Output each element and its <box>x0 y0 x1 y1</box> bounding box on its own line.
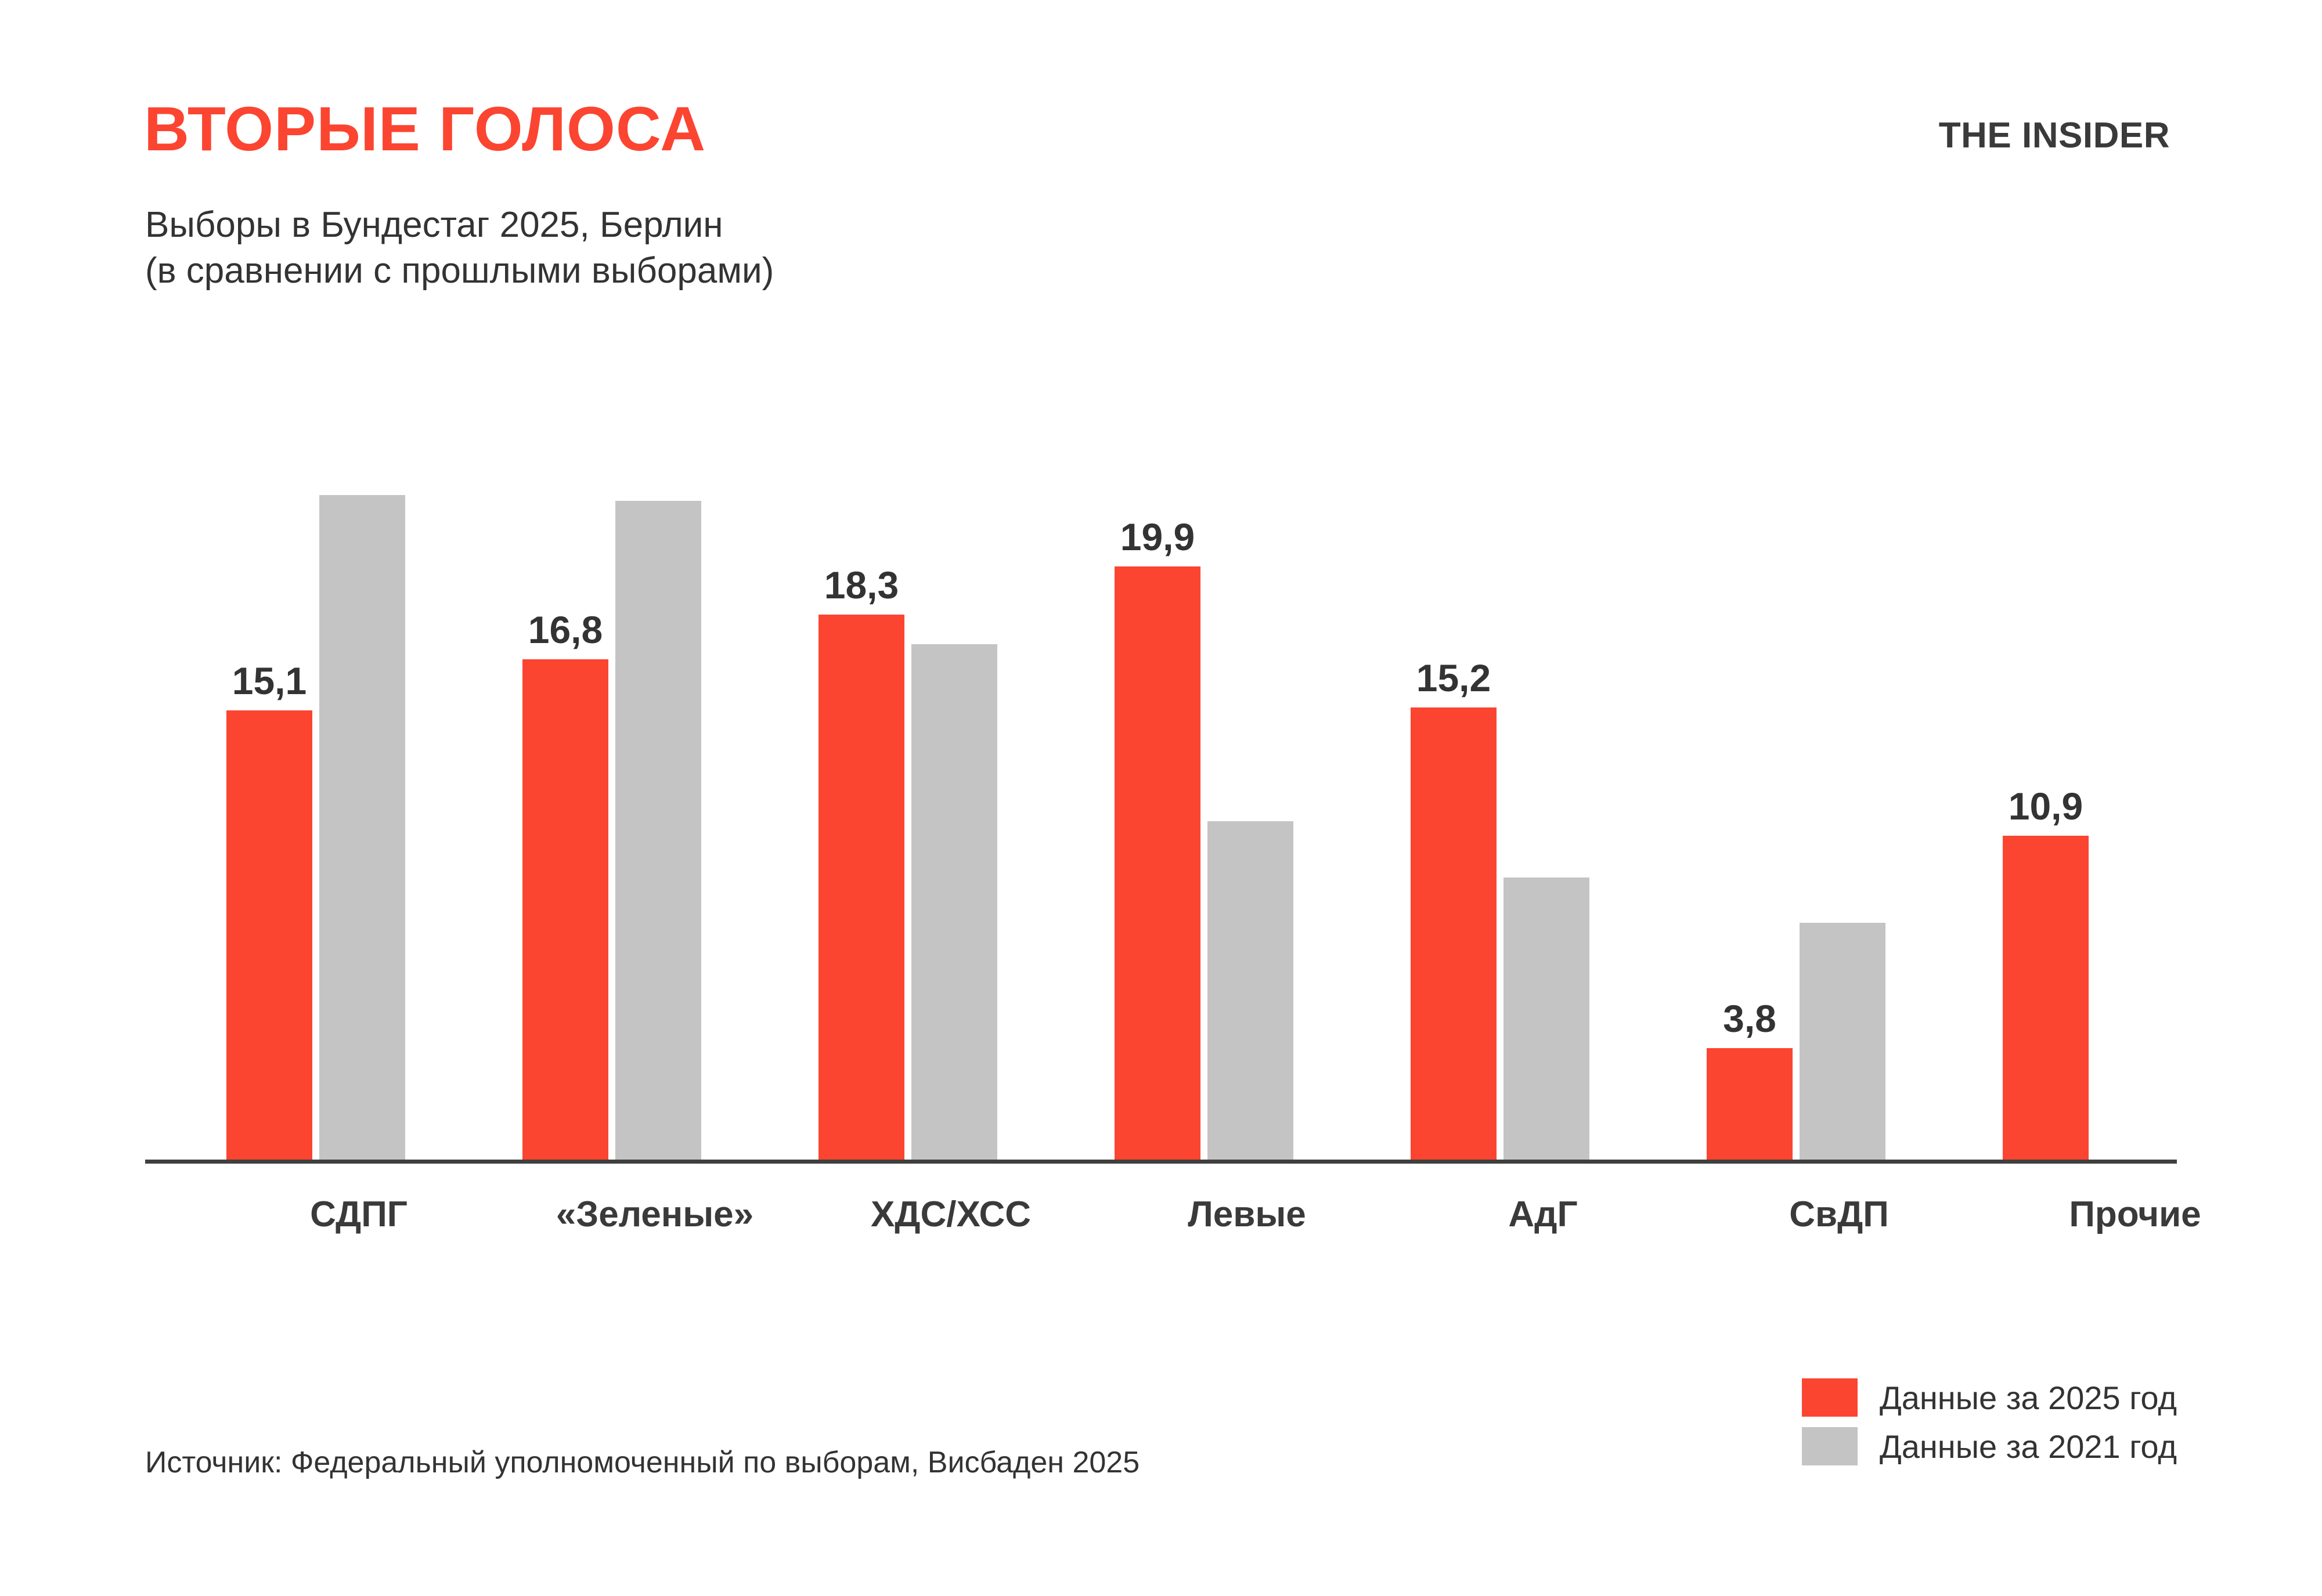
bar-current-5[interactable] <box>1411 707 1497 1162</box>
x-axis-line <box>145 1160 2177 1164</box>
legend-item-1[interactable]: Данные за 2025 год <box>1802 1378 2177 1417</box>
legend-swatch-icon <box>1802 1378 1858 1417</box>
bar-current-3[interactable] <box>819 615 904 1162</box>
bar-previous-1[interactable] <box>319 495 405 1162</box>
x-axis-label-5: АдГ <box>1404 1197 1682 1233</box>
bar-group: 15,1 <box>226 441 405 1162</box>
bar-current-2[interactable] <box>522 659 608 1162</box>
bar-current-6[interactable] <box>1707 1048 1793 1162</box>
bar-current-7[interactable] <box>2003 836 2089 1162</box>
legend-item-2[interactable]: Данные за 2021 год <box>1802 1427 2177 1465</box>
chart-legend: Данные за 2025 годДанные за 2021 год <box>1802 1378 2177 1465</box>
legend-swatch-icon <box>1802 1427 1858 1465</box>
bar-value-label: 10,9 <box>1980 787 2112 825</box>
bar-group: 15,2 <box>1411 441 1589 1162</box>
legend-label: Данные за 2021 год <box>1880 1428 2177 1465</box>
bar-current-4[interactable] <box>1115 566 1200 1162</box>
bar-value-label: 15,1 <box>203 662 336 700</box>
bar-group: 18,3 <box>819 441 997 1162</box>
legend-label: Данные за 2025 год <box>1880 1379 2177 1417</box>
plot-area: 15,116,818,319,915,23,810,9 <box>145 441 2177 1162</box>
bar-previous-5[interactable] <box>1503 878 1589 1162</box>
bar-previous-3[interactable] <box>911 644 997 1162</box>
x-axis-label-1: СДПГ <box>219 1197 498 1233</box>
bar-value-label: 19,9 <box>1091 518 1224 556</box>
bar-previous-6[interactable] <box>1800 923 1885 1162</box>
bar-previous-2[interactable] <box>615 501 701 1162</box>
bar-current-1[interactable] <box>226 710 312 1162</box>
x-axis-label-4: Левые <box>1108 1197 1386 1233</box>
bar-previous-4[interactable] <box>1207 821 1293 1162</box>
x-axis-label-3: ХДС/ХСС <box>812 1197 1090 1233</box>
bar-value-label: 16,8 <box>499 611 632 649</box>
bar-group: 16,8 <box>522 441 701 1162</box>
bar-group: 19,9 <box>1115 441 1293 1162</box>
source-note: Источник: Федеральный уполномоченный по … <box>145 1445 1140 1480</box>
bar-value-label: 15,2 <box>1387 659 1520 697</box>
bar-group: 3,8 <box>1707 441 1885 1162</box>
bar-group: 10,9 <box>2003 441 2182 1162</box>
x-axis-label-6: СвДП <box>1700 1197 1978 1233</box>
x-axis-label-2: «Зеленые» <box>515 1197 794 1233</box>
bar-value-label: 3,8 <box>1683 999 1816 1038</box>
x-axis-label-7: Прочие <box>1996 1197 2274 1233</box>
bar-chart: 15,116,818,319,915,23,810,9 СДПГ«Зеленые… <box>0 0 2322 1596</box>
bar-value-label: 18,3 <box>795 566 928 604</box>
